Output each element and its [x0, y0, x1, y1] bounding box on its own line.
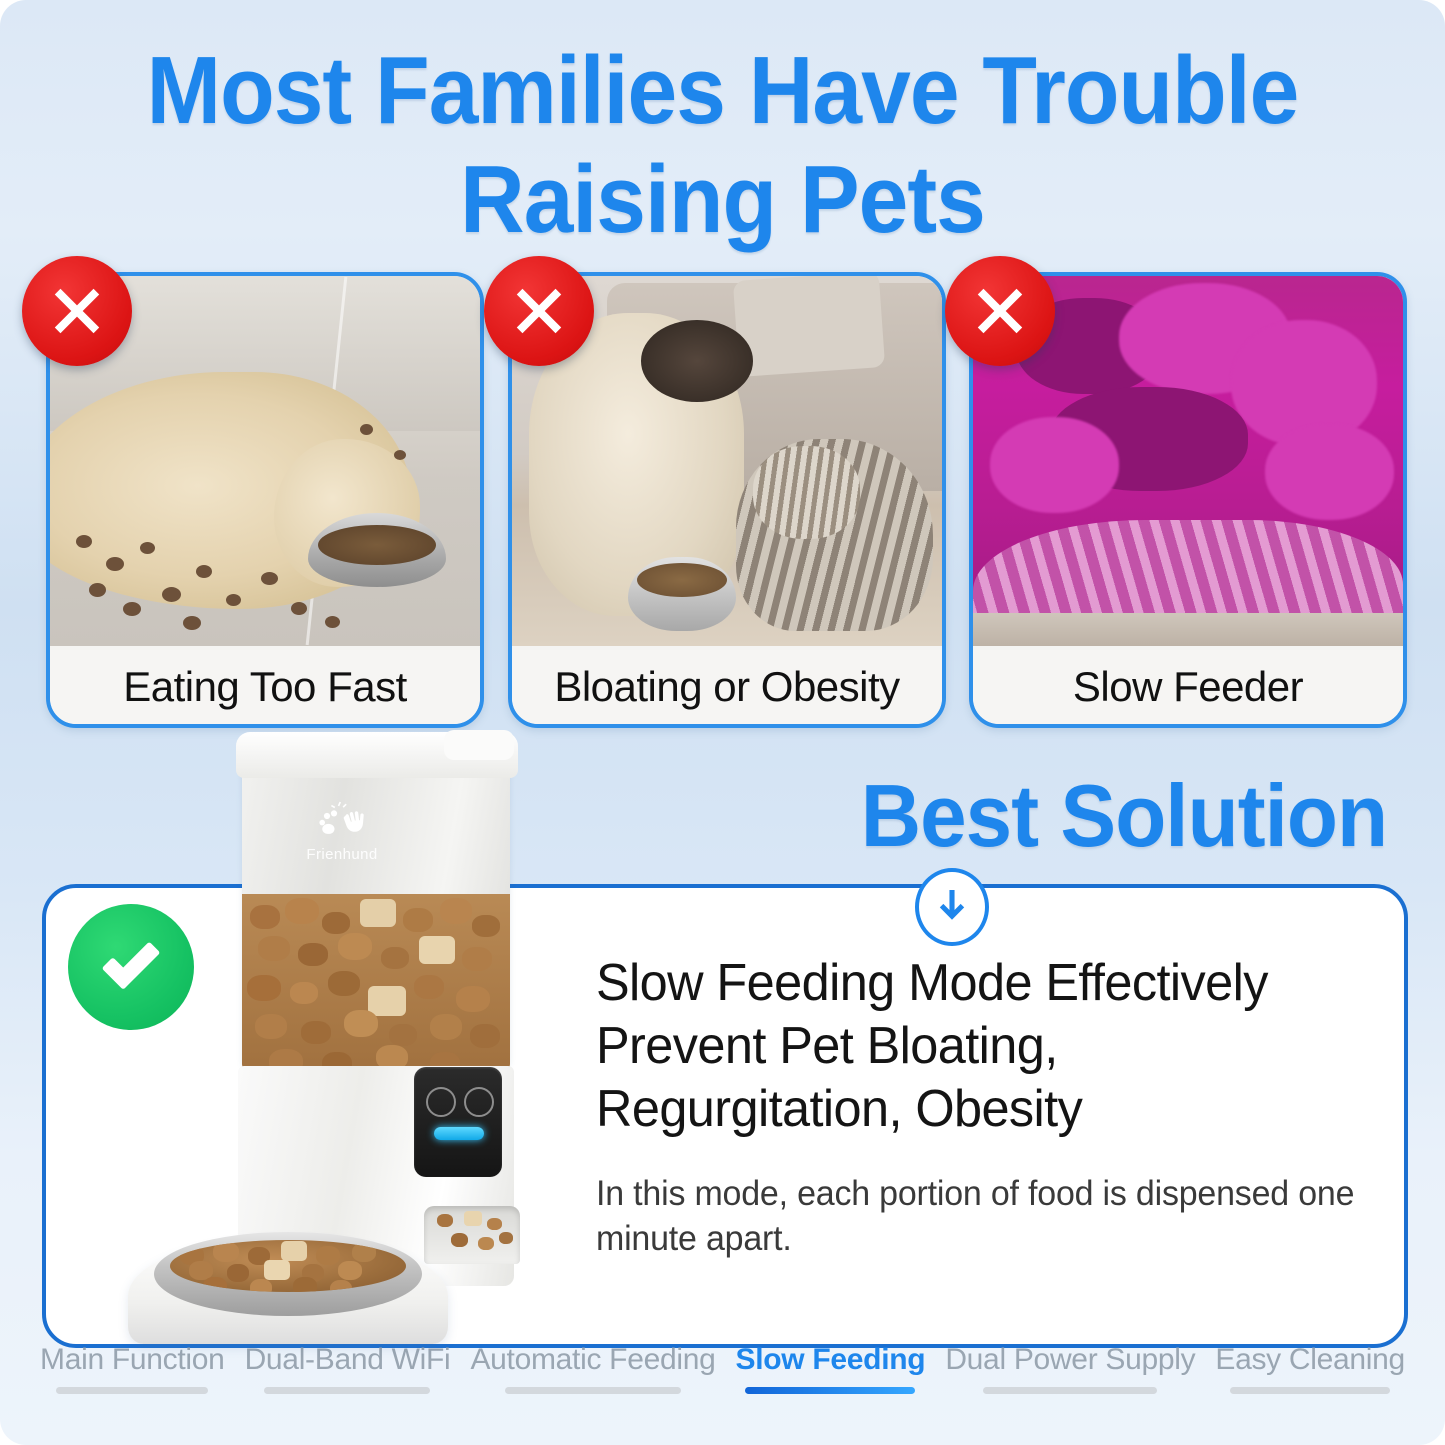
tab-underline: [505, 1387, 681, 1394]
solution-title: Slow Feeding Mode Effectively Prevent Pe…: [596, 952, 1362, 1141]
x-mark-icon: [945, 256, 1055, 366]
feed-button-icon[interactable]: [464, 1087, 494, 1117]
tab-label: Dual Power Supply: [945, 1343, 1195, 1377]
tab-dual-power-supply[interactable]: Dual Power Supply: [945, 1343, 1195, 1394]
brand-logo: Frienhund: [282, 800, 402, 863]
tab-underline-active: [745, 1387, 915, 1394]
tab-label: Main Function: [40, 1343, 225, 1377]
paw-highfive-icon: [315, 800, 369, 844]
product-infographic-page: Most Families Have Trouble Raising Pets: [0, 0, 1445, 1445]
blue-led-indicator: [434, 1127, 484, 1140]
x-mark-icon: [22, 256, 132, 366]
tab-underline: [983, 1387, 1157, 1394]
tab-underline: [1230, 1387, 1390, 1394]
solution-description: In this mode, each portion of food is di…: [596, 1171, 1362, 1262]
tab-dual-band-wifi[interactable]: Dual-Band WiFi: [245, 1343, 451, 1394]
page-title-line-1: Most Families Have Trouble: [147, 37, 1299, 144]
tab-underline: [56, 1387, 208, 1394]
tab-slow-feeding[interactable]: Slow Feeding: [736, 1343, 926, 1394]
problem-card-caption-2: Bloating or Obesity: [512, 650, 942, 724]
arrow-down-icon: [915, 868, 989, 946]
feeder-food-fill: [242, 894, 510, 1070]
problem-cards: Eating Too Fast Bloating or Obesity: [0, 272, 1445, 722]
feeder-control-panel[interactable]: [414, 1067, 502, 1177]
check-mark-icon: [64, 900, 198, 1034]
x-mark-icon: [484, 256, 594, 366]
tab-label: Dual-Band WiFi: [245, 1343, 451, 1377]
tab-automatic-feeding[interactable]: Automatic Feeding: [470, 1343, 715, 1394]
brand-name: Frienhund: [282, 846, 402, 863]
feeder-dispense-chute: [424, 1206, 520, 1264]
tab-label: Slow Feeding: [736, 1343, 926, 1377]
tab-easy-cleaning[interactable]: Easy Cleaning: [1215, 1343, 1405, 1394]
tab-label: Automatic Feeding: [470, 1343, 715, 1377]
best-solution-heading: Best Solution: [861, 765, 1387, 867]
feature-tab-bar: Main Function Dual-Band WiFi Automatic F…: [0, 1343, 1445, 1421]
page-title: Most Families Have Trouble Raising Pets: [51, 36, 1395, 255]
bowl-food: [170, 1240, 406, 1292]
pet-feeder-device: Frienhund: [110, 736, 570, 1336]
feeder-bowl: [154, 1232, 422, 1316]
tab-label: Easy Cleaning: [1215, 1343, 1405, 1377]
problem-card-caption-1: Eating Too Fast: [50, 650, 480, 724]
page-title-line-2: Raising Pets: [51, 145, 1395, 254]
feeder-lid-tab: [444, 730, 514, 760]
tab-underline: [264, 1387, 430, 1394]
problem-card-caption-3: Slow Feeder: [973, 650, 1403, 724]
tab-main-function[interactable]: Main Function: [40, 1343, 225, 1394]
solution-text-block: Slow Feeding Mode Effectively Prevent Pe…: [596, 952, 1386, 1262]
power-button-icon[interactable]: [426, 1087, 456, 1117]
